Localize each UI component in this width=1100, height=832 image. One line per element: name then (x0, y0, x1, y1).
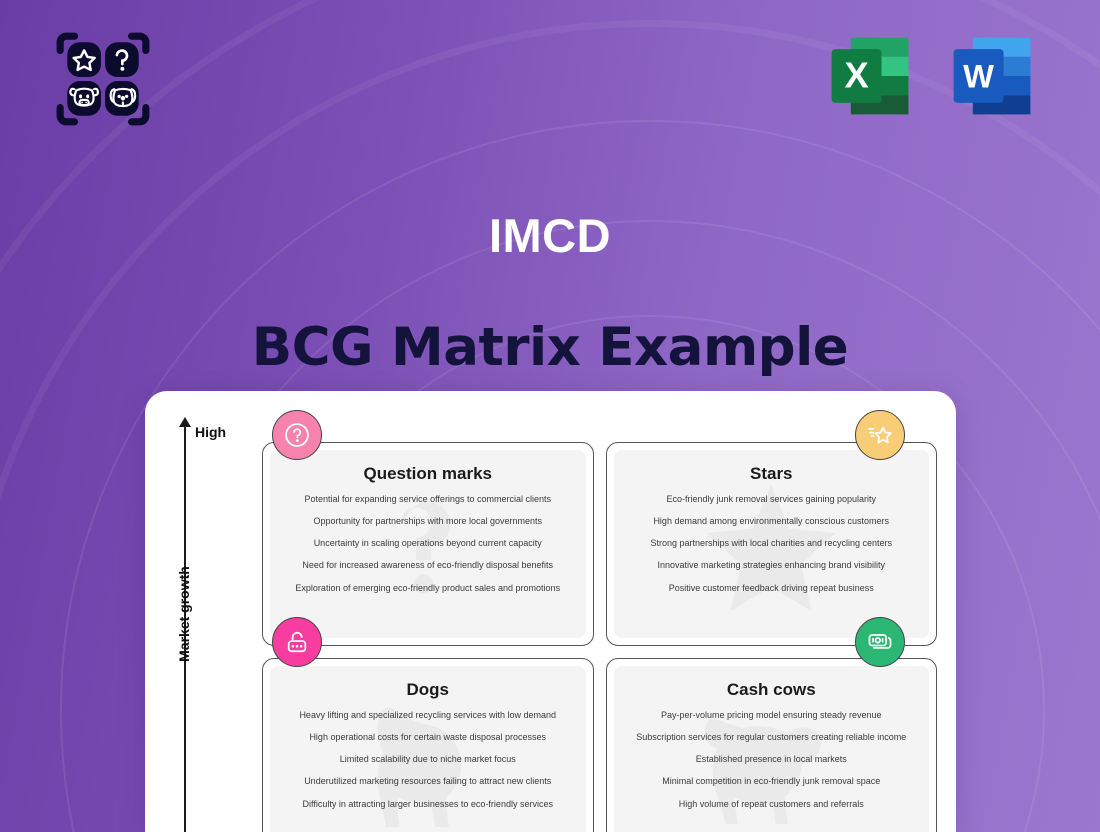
quadrant-item-list: Pay-per-volume pricing model ensuring st… (614, 709, 930, 810)
list-item: Established presence in local markets (614, 753, 930, 765)
excel-icon: X (822, 28, 918, 124)
list-item: Uncertainty in scaling operations beyond… (270, 537, 586, 549)
quadrant-cash-cows[interactable]: Cash cows Pay-per-volume pricing model e… (606, 658, 938, 832)
svg-text:X: X (844, 55, 868, 96)
quadrant-item-list: Eco-friendly junk removal services gaini… (614, 493, 930, 594)
unlock-padlock-icon (283, 628, 311, 656)
list-item: Eco-friendly junk removal services gaini… (614, 493, 930, 505)
list-item: Difficulty in attracting larger business… (270, 798, 586, 810)
page-title: BCG Matrix Example (0, 317, 1100, 378)
badge-question-marks[interactable] (272, 410, 322, 460)
bcg-matrix-logo-icon (52, 28, 154, 130)
shooting-star-icon (866, 421, 894, 449)
list-item: High demand among environmentally consci… (614, 515, 930, 527)
list-item: Positive customer feedback driving repea… (614, 582, 930, 594)
list-item: Limited scalability due to niche market … (270, 753, 586, 765)
list-item: Underutilized marketing resources failin… (270, 775, 586, 787)
quadrant-dogs[interactable]: Dogs Heavy lifting and specialized recyc… (262, 658, 594, 832)
quadrant-item-list: Heavy lifting and specialized recycling … (270, 709, 586, 810)
list-item: Innovative marketing strategies enhancin… (614, 559, 930, 571)
list-item: Minimal competition in eco-friendly junk… (614, 775, 930, 787)
svg-text:W: W (963, 58, 994, 95)
list-item: Need for increased awareness of eco-frie… (270, 559, 586, 571)
list-item: Potential for expanding service offering… (270, 493, 586, 505)
axis-high-label: High (195, 424, 226, 440)
list-item: Pay-per-volume pricing model ensuring st… (614, 709, 930, 721)
word-icon: W (944, 28, 1040, 124)
quadrant-title: Stars (614, 464, 930, 484)
brand-title: IMCD (0, 208, 1100, 263)
list-item: Heavy lifting and specialized recycling … (270, 709, 586, 721)
axis-market-growth-label: Market growth (176, 554, 192, 674)
matrix-panel: High Market growth Question marks Potent… (145, 391, 956, 832)
quadrant-title: Cash cows (614, 680, 930, 700)
list-item: Opportunity for partnerships with more l… (270, 515, 586, 527)
list-item: High operational costs for certain waste… (270, 731, 586, 743)
quadrant-title: Question marks (270, 464, 586, 484)
list-item: Strong partnerships with local charities… (614, 537, 930, 549)
banknotes-icon (866, 628, 894, 656)
badge-cash-cows[interactable] (855, 617, 905, 667)
question-mark-icon (283, 421, 311, 449)
badge-dogs[interactable] (272, 617, 322, 667)
quadrant-title: Dogs (270, 680, 586, 700)
bcg-quadrant-grid: Question marks Potential for expanding s… (262, 442, 937, 832)
list-item: Exploration of emerging eco-friendly pro… (270, 582, 586, 594)
quadrant-stars[interactable]: Stars Eco-friendly junk removal services… (606, 442, 938, 646)
list-item: High volume of repeat customers and refe… (614, 798, 930, 810)
list-item: Subscription services for regular custom… (614, 731, 930, 743)
quadrant-question-marks[interactable]: Question marks Potential for expanding s… (262, 442, 594, 646)
quadrant-item-list: Potential for expanding service offering… (270, 493, 586, 594)
badge-stars[interactable] (855, 410, 905, 460)
